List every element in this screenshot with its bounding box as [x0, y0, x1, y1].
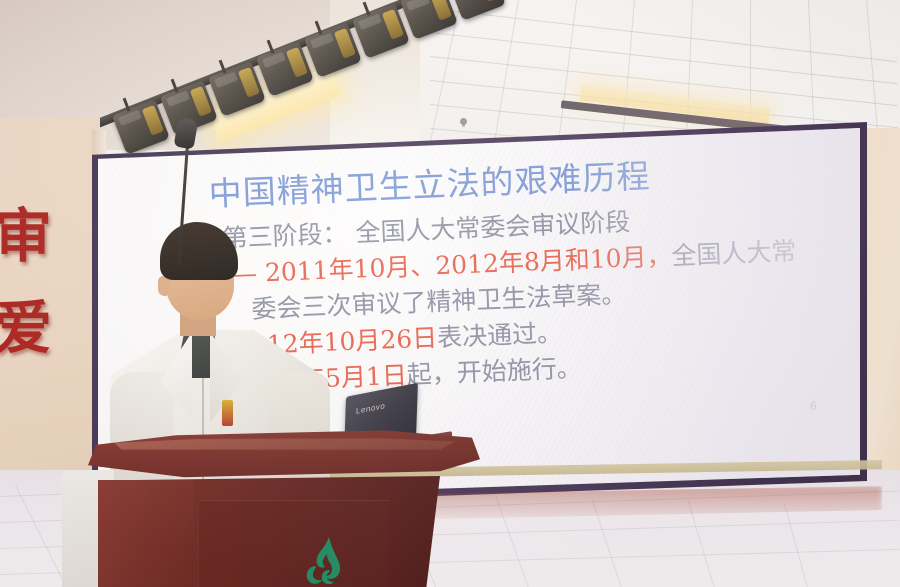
wall-calligraphy: 审 爱	[0, 190, 50, 374]
calligraphy-char-2: 爱	[0, 282, 50, 374]
presenter-badge	[222, 400, 233, 426]
green-flame-logo	[305, 536, 351, 586]
sprinkler-head-icon	[460, 118, 467, 125]
slide-text-segment: 表决通过。	[437, 318, 563, 352]
podium-side-panel	[98, 480, 194, 587]
podium-front-panel	[198, 500, 389, 587]
slide-text-segment: 全国人大常	[671, 236, 797, 270]
photo-scene: 审 爱 中国精神卫生立法的艰难历程 第三阶段： 全国人大常委会审议阶段— 201…	[0, 0, 900, 587]
calligraphy-char-1: 审	[0, 190, 50, 282]
presenter-hair	[160, 222, 238, 280]
podium	[80, 428, 500, 587]
slide-page-number: 6	[810, 399, 817, 413]
slide-text-segment: 起，开始施行。	[406, 353, 582, 389]
